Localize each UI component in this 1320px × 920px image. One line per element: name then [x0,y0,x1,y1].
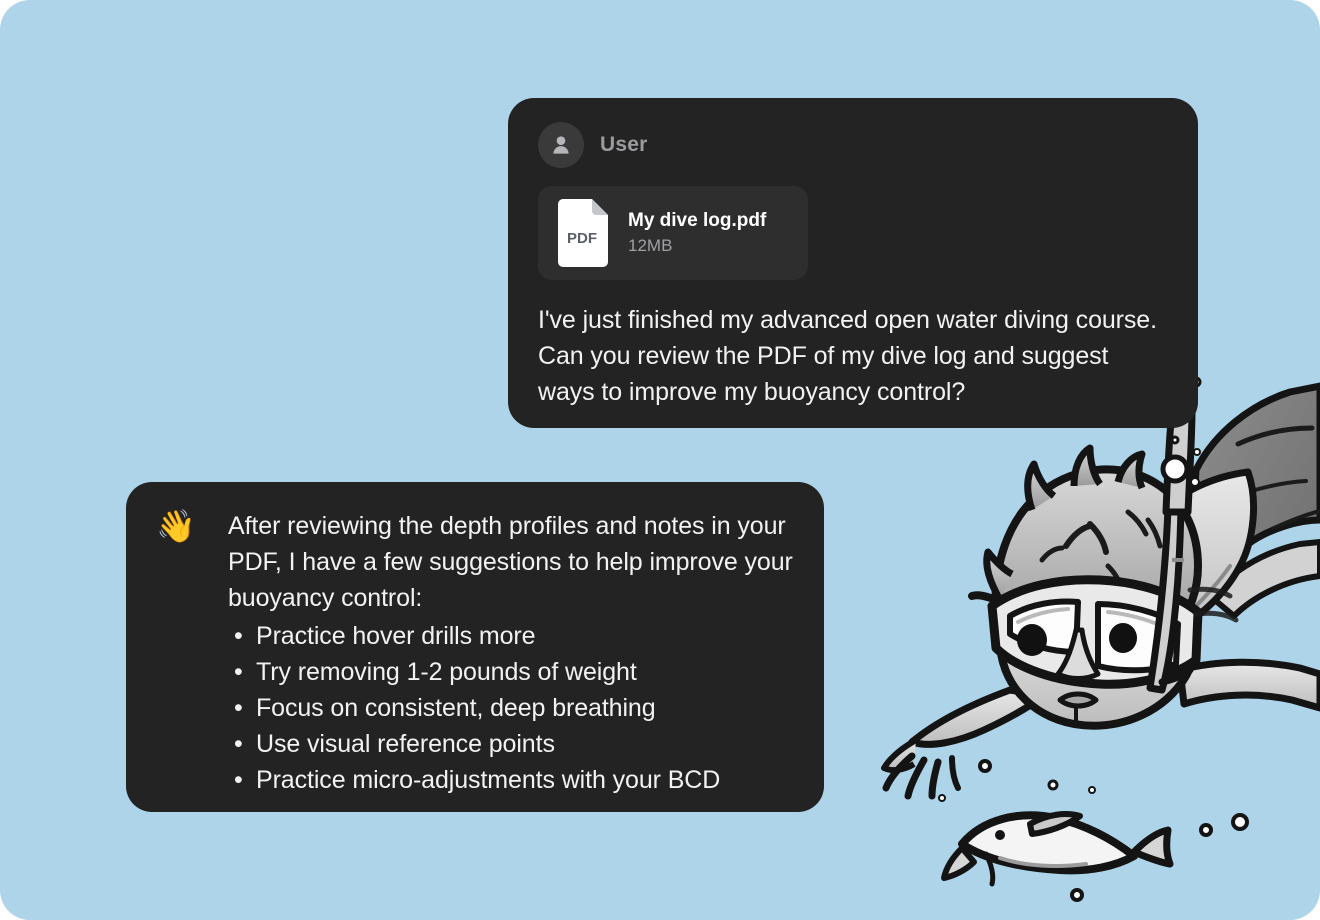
file-size: 12MB [628,236,766,256]
user-message-bubble: User PDF My dive log.pdf 12MB I've just … [508,98,1198,428]
app-canvas: User PDF My dive log.pdf 12MB I've just … [0,0,1320,920]
sender-label: User [600,133,648,157]
file-meta: My dive log.pdf 12MB [628,210,766,256]
list-item: Use visual reference points [228,726,794,762]
suggestion-list: Practice hover drills more Try removing … [156,618,794,798]
assistant-paragraph: After reviewing the depth profiles and n… [228,508,794,616]
assistant-message-bubble: 👋 After reviewing the depth profiles and… [126,482,824,812]
list-item: Focus on consistent, deep breathing [228,690,794,726]
svg-text:PDF: PDF [567,230,597,247]
user-message-text: I've just finished my advanced open wate… [538,302,1168,410]
chat-thread: User PDF My dive log.pdf 12MB I've just … [0,0,1320,920]
waving-hand-emoji: 👋 [156,508,228,544]
file-name: My dive log.pdf [628,210,766,232]
assistant-intro: 👋 After reviewing the depth profiles and… [156,508,794,616]
user-message-header: User [538,122,1168,168]
list-item: Try removing 1-2 pounds of weight [228,654,794,690]
list-item: Practice hover drills more [228,618,794,654]
person-avatar-icon [538,122,584,168]
pdf-attachment-card[interactable]: PDF My dive log.pdf 12MB [538,186,808,280]
list-item: Practice micro-adjustments with your BCD [228,762,794,798]
pdf-file-icon: PDF [554,198,612,268]
